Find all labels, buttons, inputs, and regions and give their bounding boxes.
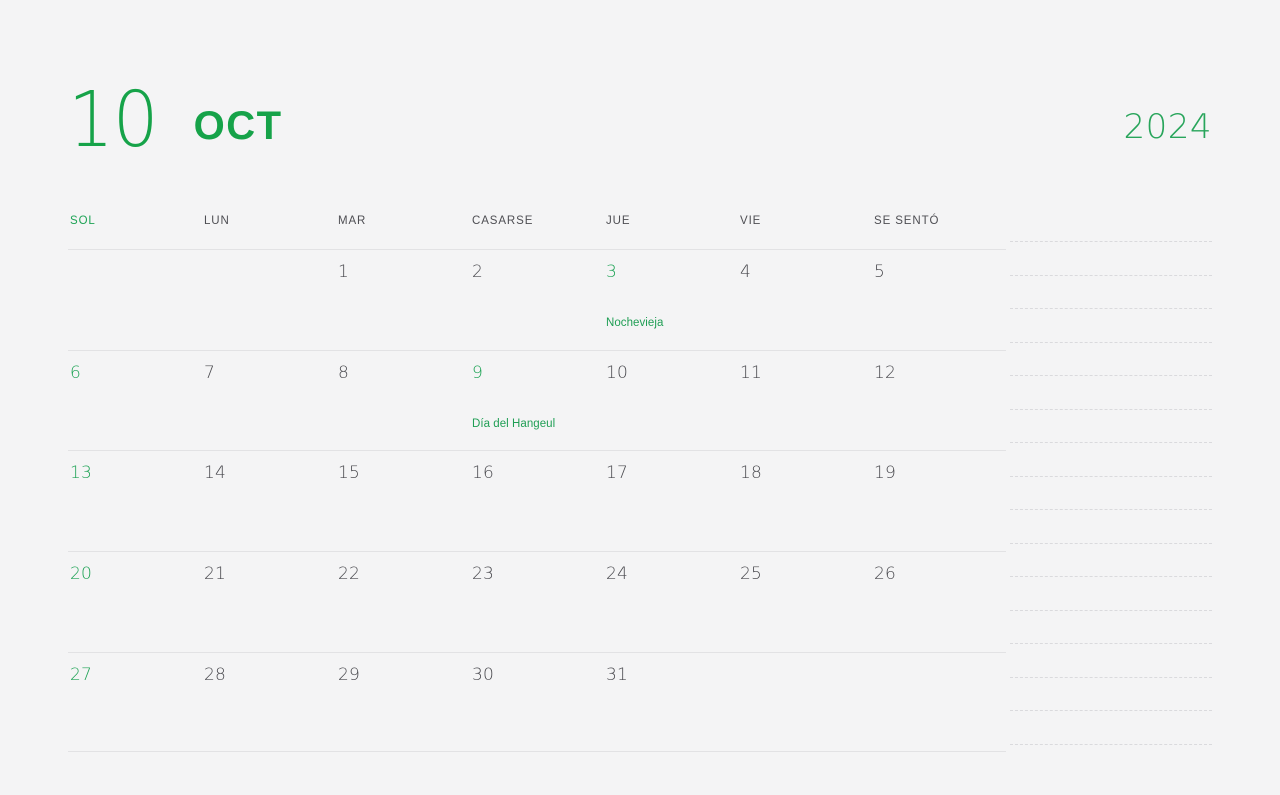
month-number: 10 [68,81,158,158]
day-cell[interactable]: 29 [336,653,470,752]
note-line[interactable] [1010,543,1212,544]
notes-panel[interactable] [1010,241,1212,761]
note-line[interactable] [1010,744,1212,745]
week-row: 2728293031 [68,652,1006,753]
day-cell[interactable]: 1 [336,250,470,350]
day-number: 28 [204,667,336,684]
day-cell[interactable]: 24 [604,552,738,652]
day-cell[interactable]: 19 [872,451,1006,551]
note-line[interactable] [1010,241,1212,242]
day-cell[interactable]: 25 [738,552,872,652]
weekday-header-5: VIE [738,210,872,249]
calendar-overflow-row [68,753,1006,795]
month-name: OCT [194,106,283,146]
calendar-header: 10 OCT 2024 [68,86,1212,178]
day-cell[interactable]: 21 [202,552,336,652]
day-number: 22 [338,566,470,583]
day-cell[interactable]: 31 [604,653,738,752]
day-number: 1 [338,264,470,281]
day-cell-empty [738,653,872,752]
day-number: 12 [874,365,1006,382]
day-number: 24 [606,566,738,583]
day-cell[interactable]: 8 [336,351,470,451]
day-cell[interactable]: 11 [738,351,872,451]
weekday-header-4: JUE [604,210,738,249]
note-line[interactable] [1010,342,1212,343]
day-number: 18 [740,465,872,482]
note-line[interactable] [1010,308,1212,309]
weekday-header-0: SOL [68,210,202,249]
note-line[interactable] [1010,610,1212,611]
day-number: 21 [204,566,336,583]
note-line[interactable] [1010,375,1212,376]
day-number: 9 [472,365,604,382]
day-cell-empty [68,250,202,350]
week-row: 13141516171819 [68,450,1006,551]
day-event-label[interactable]: Día del Hangeul [472,418,604,432]
day-number: 13 [70,465,202,482]
note-line[interactable] [1010,275,1212,276]
day-cell[interactable]: 9Día del Hangeul [470,351,604,451]
day-cell[interactable]: 12 [872,351,1006,451]
day-cell[interactable]: 18 [738,451,872,551]
month-title-group: 10 OCT [68,86,283,158]
day-number: 6 [70,365,202,382]
note-line[interactable] [1010,409,1212,410]
day-cell[interactable]: 14 [202,451,336,551]
day-cell[interactable]: 30 [470,653,604,752]
day-number: 31 [606,667,738,684]
calendar-grid: SOLLUNMARCASARSEJUEVIESE SENTÓ 123Nochev… [68,210,1006,752]
day-cell[interactable]: 4 [738,250,872,350]
week-row: 123Nochevieja45 [68,249,1006,350]
note-line[interactable] [1010,509,1212,510]
weekday-header-1: LUN [202,210,336,249]
day-number: 23 [472,566,604,583]
day-cell[interactable]: 26 [872,552,1006,652]
day-number: 11 [740,365,872,382]
day-number: 5 [874,264,1006,281]
day-cell[interactable]: 6 [68,351,202,451]
year-label: 2024 [1123,110,1212,144]
day-cell[interactable]: 3Nochevieja [604,250,738,350]
day-number: 4 [740,264,872,281]
day-number: 14 [204,465,336,482]
day-cell[interactable]: 15 [336,451,470,551]
day-number: 19 [874,465,1006,482]
day-cell[interactable]: 27 [68,653,202,752]
weeks-container: 123Nochevieja456789Día del Hangeul101112… [68,249,1006,752]
note-line[interactable] [1010,442,1212,443]
day-number: 27 [70,667,202,684]
week-row: 20212223242526 [68,551,1006,652]
day-number: 8 [338,365,470,382]
day-cell-empty [202,250,336,350]
day-number: 3 [606,264,738,281]
day-number: 20 [70,566,202,583]
week-row: 6789Día del Hangeul101112 [68,350,1006,451]
note-line[interactable] [1010,677,1212,678]
weekday-header-3: CASARSE [470,210,604,249]
weekday-header-6: SE SENTÓ [872,210,1006,249]
day-cell[interactable]: 10 [604,351,738,451]
day-number: 26 [874,566,1006,583]
day-cell[interactable]: 28 [202,653,336,752]
day-cell[interactable]: 13 [68,451,202,551]
day-cell[interactable]: 16 [470,451,604,551]
day-number: 2 [472,264,604,281]
note-line[interactable] [1010,643,1212,644]
day-number: 16 [472,465,604,482]
day-event-label[interactable]: Nochevieja [606,317,738,331]
day-number: 30 [472,667,604,684]
day-cell[interactable]: 23 [470,552,604,652]
day-cell[interactable]: 22 [336,552,470,652]
day-number: 29 [338,667,470,684]
day-cell[interactable]: 17 [604,451,738,551]
day-number: 7 [204,365,336,382]
day-cell[interactable]: 7 [202,351,336,451]
day-number: 17 [606,465,738,482]
day-cell[interactable]: 5 [872,250,1006,350]
day-number: 15 [338,465,470,482]
note-line[interactable] [1010,476,1212,477]
weekday-header-2: MAR [336,210,470,249]
day-number: 10 [606,365,738,382]
day-cell-empty [872,653,1006,752]
day-cell[interactable]: 20 [68,552,202,652]
calendar-page: 10 OCT 2024 SOLLUNMARCASARSEJUEVIESE SEN… [0,0,1280,795]
day-cell[interactable]: 2 [470,250,604,350]
note-line[interactable] [1010,576,1212,577]
day-number: 25 [740,566,872,583]
weekday-header-row: SOLLUNMARCASARSEJUEVIESE SENTÓ [68,210,1006,249]
note-line[interactable] [1010,710,1212,711]
